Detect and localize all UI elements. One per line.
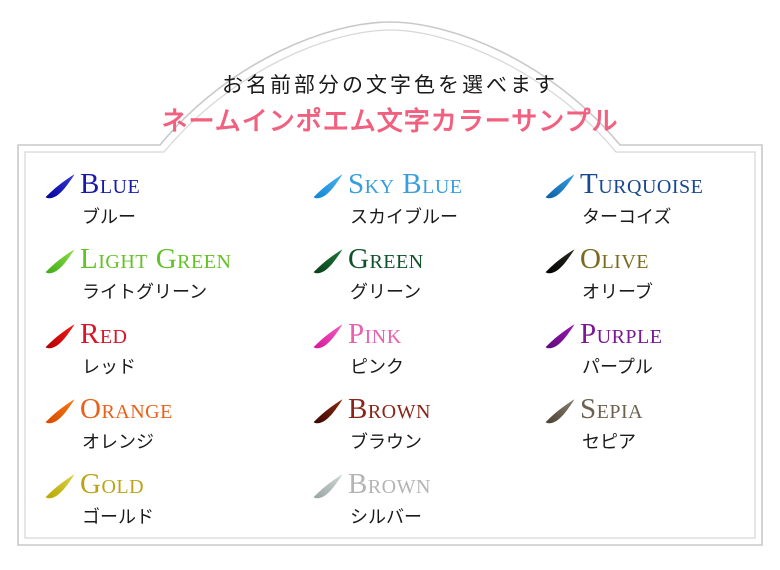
color-swatch[interactable]: Purpleパープル	[544, 320, 744, 395]
color-name-ja: ゴールド	[82, 508, 312, 526]
color-name-ja: レッド	[82, 358, 312, 376]
brush-stroke-icon	[312, 398, 344, 424]
color-name-ja: ブラウン	[350, 433, 544, 451]
color-swatch[interactable]: Sky Blueスカイブルー	[312, 170, 544, 245]
color-name-en: Purple	[580, 320, 744, 349]
color-swatch[interactable]: Greenグリーン	[312, 245, 544, 320]
swatch-labels: Purpleパープル	[580, 320, 744, 376]
swatch-labels: Turquoiseターコイズ	[580, 170, 744, 226]
swatch-row: Sky Blueスカイブルー	[312, 170, 544, 226]
swatch-labels: Blueブルー	[80, 170, 312, 226]
color-name-en: Brown	[348, 470, 544, 499]
brush-stroke-icon	[44, 173, 76, 199]
color-name-ja: セピア	[582, 433, 744, 451]
color-name-en: Blue	[80, 170, 312, 199]
brush-stroke-icon	[44, 398, 76, 424]
color-name-ja: パープル	[582, 358, 744, 376]
color-name-en: Orange	[80, 395, 312, 424]
color-name-ja: シルバー	[350, 508, 544, 526]
color-name-ja: スカイブルー	[350, 208, 544, 226]
color-name-en: Turquoise	[580, 170, 744, 199]
swatch-row: Brownブラウン	[312, 395, 544, 451]
swatch-labels: Brownブラウン	[348, 395, 544, 451]
color-name-ja: グリーン	[350, 283, 544, 301]
swatch-row: Blueブルー	[44, 170, 312, 226]
swatch-labels: Sky Blueスカイブルー	[348, 170, 544, 226]
brush-stroke-icon	[312, 473, 344, 499]
color-swatch[interactable]: Orangeオレンジ	[44, 395, 312, 470]
swatch-row: Orangeオレンジ	[44, 395, 312, 451]
swatch-labels: Light Greenライトグリーン	[80, 245, 312, 301]
swatch-row: Turquoiseターコイズ	[544, 170, 744, 226]
swatch-labels: Oliveオリーブ	[580, 245, 744, 301]
brush-stroke-icon	[544, 173, 576, 199]
color-name-en: Sepia	[580, 395, 744, 424]
color-name-ja: オリーブ	[582, 283, 744, 301]
swatch-labels: Greenグリーン	[348, 245, 544, 301]
color-name-ja: ターコイズ	[582, 208, 744, 226]
color-swatch[interactable]: Sepiaセピア	[544, 395, 744, 470]
color-sample-grid: BlueブルーSky BlueスカイブルーTurquoiseターコイズLight…	[44, 170, 744, 545]
color-swatch[interactable]: Redレッド	[44, 320, 312, 395]
color-name-en: Gold	[80, 470, 312, 499]
swatch-row: Redレッド	[44, 320, 312, 376]
swatch-row: Pinkピンク	[312, 320, 544, 376]
color-name-en: Pink	[348, 320, 544, 349]
swatch-labels: Redレッド	[80, 320, 312, 376]
swatch-labels: Brownシルバー	[348, 470, 544, 526]
color-name-ja: ライトグリーン	[82, 283, 312, 301]
color-swatch[interactable]: Goldゴールド	[44, 470, 312, 545]
brush-stroke-icon	[312, 248, 344, 274]
color-name-ja: ブルー	[82, 208, 312, 226]
brush-stroke-icon	[44, 473, 76, 499]
color-swatch[interactable]: Turquoiseターコイズ	[544, 170, 744, 245]
page-title: ネームインポエム文字カラーサンプル	[0, 104, 780, 139]
brush-stroke-icon	[544, 248, 576, 274]
color-name-en: Light Green	[80, 245, 312, 274]
color-name-en: Sky Blue	[348, 170, 544, 199]
header: お名前部分の文字色を選べます ネームインポエム文字カラーサンプル	[0, 72, 780, 139]
page-root: お名前部分の文字色を選べます ネームインポエム文字カラーサンプル Blueブルー…	[0, 0, 780, 570]
swatch-labels: Goldゴールド	[80, 470, 312, 526]
color-name-en: Olive	[580, 245, 744, 274]
brush-stroke-icon	[44, 248, 76, 274]
header-subtitle: お名前部分の文字色を選べます	[0, 72, 780, 98]
color-swatch[interactable]: Oliveオリーブ	[544, 245, 744, 320]
color-swatch[interactable]: Brownブラウン	[312, 395, 544, 470]
swatch-row: Purpleパープル	[544, 320, 744, 376]
swatch-row: Greenグリーン	[312, 245, 544, 301]
swatch-labels: Orangeオレンジ	[80, 395, 312, 451]
color-name-en: Brown	[348, 395, 544, 424]
swatch-row: Light Greenライトグリーン	[44, 245, 312, 301]
color-name-en: Red	[80, 320, 312, 349]
color-swatch[interactable]: Brownシルバー	[312, 470, 544, 545]
swatch-labels: Sepiaセピア	[580, 395, 744, 451]
brush-stroke-icon	[312, 323, 344, 349]
swatch-labels: Pinkピンク	[348, 320, 544, 376]
color-swatch[interactable]: Light Greenライトグリーン	[44, 245, 312, 320]
swatch-row: Brownシルバー	[312, 470, 544, 526]
brush-stroke-icon	[312, 173, 344, 199]
color-swatch[interactable]: Pinkピンク	[312, 320, 544, 395]
color-name-ja: ピンク	[350, 358, 544, 376]
brush-stroke-icon	[44, 323, 76, 349]
brush-stroke-icon	[544, 323, 576, 349]
color-swatch[interactable]: Blueブルー	[44, 170, 312, 245]
color-name-en: Green	[348, 245, 544, 274]
swatch-row: Goldゴールド	[44, 470, 312, 526]
brush-stroke-icon	[544, 398, 576, 424]
color-name-ja: オレンジ	[82, 433, 312, 451]
swatch-row: Oliveオリーブ	[544, 245, 744, 301]
swatch-row: Sepiaセピア	[544, 395, 744, 451]
